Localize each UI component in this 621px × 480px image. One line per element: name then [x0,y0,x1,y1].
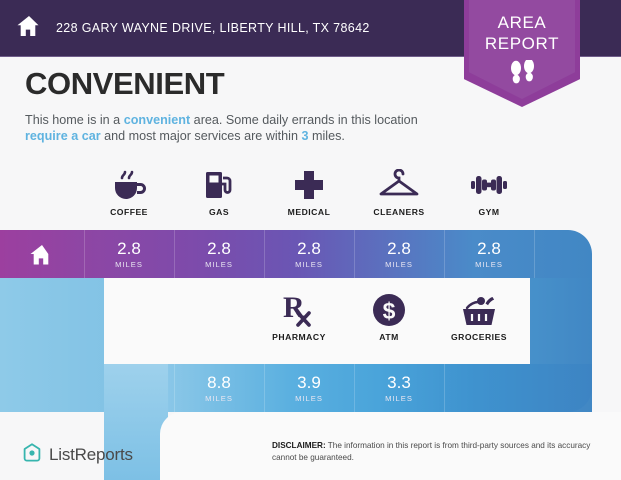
distance-cell-pharmacy: 8.8 MILES [174,364,264,412]
badge-line-1: AREA [498,14,547,31]
page-title: CONVENIENT [25,68,224,99]
coffee-cup-icon [109,166,149,204]
distance-unit: MILES [475,260,503,269]
distance-row-2: 8.8 MILES 3.9 MILES 3.3 MILES [104,364,592,412]
subtitle-part-4: miles. [309,129,345,143]
subtitle-highlight-1: convenient [124,113,190,127]
category-medical: MEDICAL [264,166,354,226]
medical-cross-icon [292,166,326,204]
distance-cell-coffee: 2.8 MILES [84,230,174,278]
category-coffee: COFFEE [84,166,174,226]
subtitle-highlight-3: 3 [301,129,308,143]
category-label: GYM [478,207,499,217]
home-icon [16,14,42,43]
category-label: PHARMACY [272,332,326,342]
distance-value: 2.8 [477,240,501,257]
badge-line-2: REPORT [485,35,559,52]
distance-value: 3.9 [297,374,321,391]
distance-cell-atm: 3.9 MILES [264,364,354,412]
distance-unit: MILES [295,260,323,269]
category-gas: GAS [174,166,264,226]
distance-unit: MILES [205,394,233,403]
distance-cell-groceries: 3.3 MILES [354,364,444,412]
disclaimer: DISCLAIMER: The information in this repo… [272,440,602,463]
distance-unit: MILES [385,394,413,403]
distance-cell-medical: 2.8 MILES [264,230,354,278]
listreports-logo-text: ListReports [49,445,133,465]
category-gym: GYM [444,166,534,226]
page-subtitle: This home is in a convenient area. Some … [25,112,445,144]
subtitle-part-3: and most major services are within [101,129,302,143]
category-icon-row-1: COFFEE GAS MEDICAL [84,166,534,226]
distance-unit: MILES [115,260,143,269]
distance-cell-gym: 2.8 MILES [444,230,534,278]
category-icon-row-2: R PHARMACY $ ATM [254,290,524,352]
distance-row-1: 2.8 MILES 2.8 MILES 2.8 MILES 2.8 MILES … [0,230,592,278]
subtitle-part-2: area. Some daily errands in this locatio… [190,113,418,127]
category-label: CLEANERS [373,207,424,217]
category-pharmacy: R PHARMACY [254,290,344,352]
category-atm: $ ATM [344,290,434,352]
distance-value: 2.8 [297,240,321,257]
category-groceries: GROCERIES [434,290,524,352]
subtitle-highlight-2: require a car [25,129,101,143]
footprints-icon [505,60,539,91]
listreports-logo[interactable]: ListReports [22,442,133,468]
distance-value: 2.8 [117,240,141,257]
rx-icon: R [281,290,317,330]
dumbbell-icon [468,166,510,204]
distance-value: 2.8 [207,240,231,257]
distance-value: 2.8 [387,240,411,257]
home-icon [0,230,84,278]
distance-cell-gas: 2.8 MILES [174,230,264,278]
svg-text:$: $ [383,298,396,324]
disclaimer-label: DISCLAIMER: [272,441,326,450]
category-label: COFFEE [110,207,148,217]
gas-pump-icon [202,166,236,204]
distance-unit: MILES [295,394,323,403]
category-label: GROCERIES [451,332,507,342]
category-label: MEDICAL [288,207,331,217]
property-address: 228 GARY WAYNE DRIVE, LIBERTY HILL, TX 7… [56,21,370,35]
distance-unit: MILES [385,260,413,269]
dollar-circle-icon: $ [371,290,407,330]
category-label: ATM [379,332,398,342]
distance-value: 3.3 [387,374,411,391]
category-cleaners: CLEANERS [354,166,444,226]
distance-unit: MILES [205,260,233,269]
hanger-icon [378,166,420,204]
footer: ListReports DISCLAIMER: The information … [0,412,621,480]
distance-cell-cleaners: 2.8 MILES [354,230,444,278]
subtitle-part-1: This home is in a [25,113,124,127]
grocery-basket-icon [459,290,499,330]
distance-value: 8.8 [207,374,231,391]
category-label: GAS [209,207,229,217]
listreports-house-icon [22,442,42,468]
area-report-page: 228 GARY WAYNE DRIVE, LIBERTY HILL, TX 7… [0,0,621,480]
